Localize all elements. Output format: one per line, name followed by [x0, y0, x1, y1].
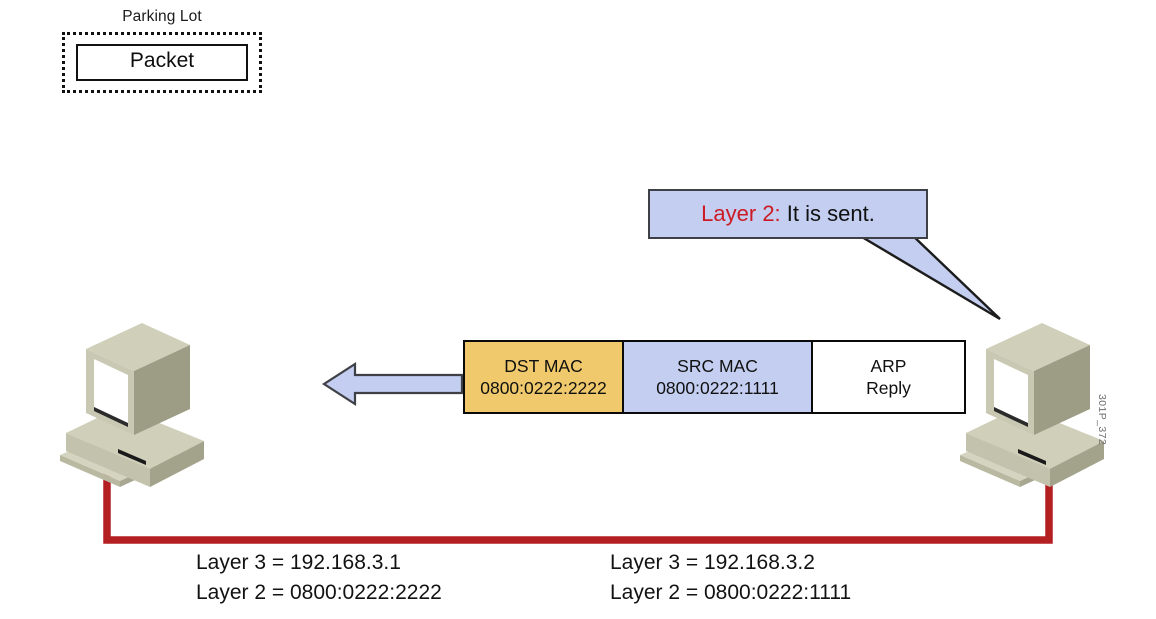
endpoint-left-addresses: Layer 3 = 192.168.3.1 Layer 2 = 0800:022… — [196, 548, 442, 608]
parking-lot-label: Parking Lot — [62, 8, 262, 26]
ethernet-frame: DST MAC 0800:0222:2222 SRC MAC 0800:0222… — [463, 340, 966, 414]
endpoint-right-layer2: Layer 2 = 0800:0222:1111 — [610, 578, 851, 608]
frame-cell-dst-mac: DST MAC 0800:0222:2222 — [465, 342, 622, 412]
computer-left-icon — [58, 303, 240, 493]
frame-cell-arp-reply-value: Reply — [866, 377, 911, 399]
callout-layer-prefix: Layer 2: — [701, 201, 781, 226]
frame-cell-src-mac: SRC MAC 0800:0222:1111 — [622, 342, 811, 412]
frame-cell-dst-mac-value: 0800:0222:2222 — [480, 377, 607, 399]
frame-cell-arp-reply-title: ARP — [871, 355, 907, 377]
endpoint-left-layer2: Layer 2 = 0800:0222:2222 — [196, 578, 442, 608]
leftward-flow-arrow-icon — [320, 358, 465, 410]
watermark-label: 301P_372 — [1096, 394, 1108, 445]
endpoint-right-layer3: Layer 3 = 192.168.3.2 — [610, 548, 851, 578]
packet-box: Packet — [76, 44, 248, 81]
frame-cell-arp-reply: ARP Reply — [811, 342, 964, 412]
frame-cell-src-mac-value: 0800:0222:1111 — [656, 377, 779, 399]
callout-bubble: Layer 2: It is sent. — [648, 189, 928, 239]
diagram-canvas: Parking Lot Packet Layer 2: It is sent. … — [0, 0, 1156, 619]
computer-right-icon — [958, 303, 1140, 493]
callout-group: Layer 2: It is sent. — [648, 189, 1000, 321]
callout-message: It is sent. — [781, 201, 875, 226]
parking-lot-container: Packet — [62, 32, 262, 93]
callout-text: Layer 2: It is sent. — [701, 203, 875, 225]
frame-cell-src-mac-title: SRC MAC — [677, 355, 758, 377]
parking-lot-group: Parking Lot Packet — [62, 8, 262, 93]
endpoint-right-addresses: Layer 3 = 192.168.3.2 Layer 2 = 0800:022… — [610, 548, 851, 608]
frame-cell-dst-mac-title: DST MAC — [504, 355, 582, 377]
endpoint-left-layer3: Layer 3 = 192.168.3.1 — [196, 548, 442, 578]
